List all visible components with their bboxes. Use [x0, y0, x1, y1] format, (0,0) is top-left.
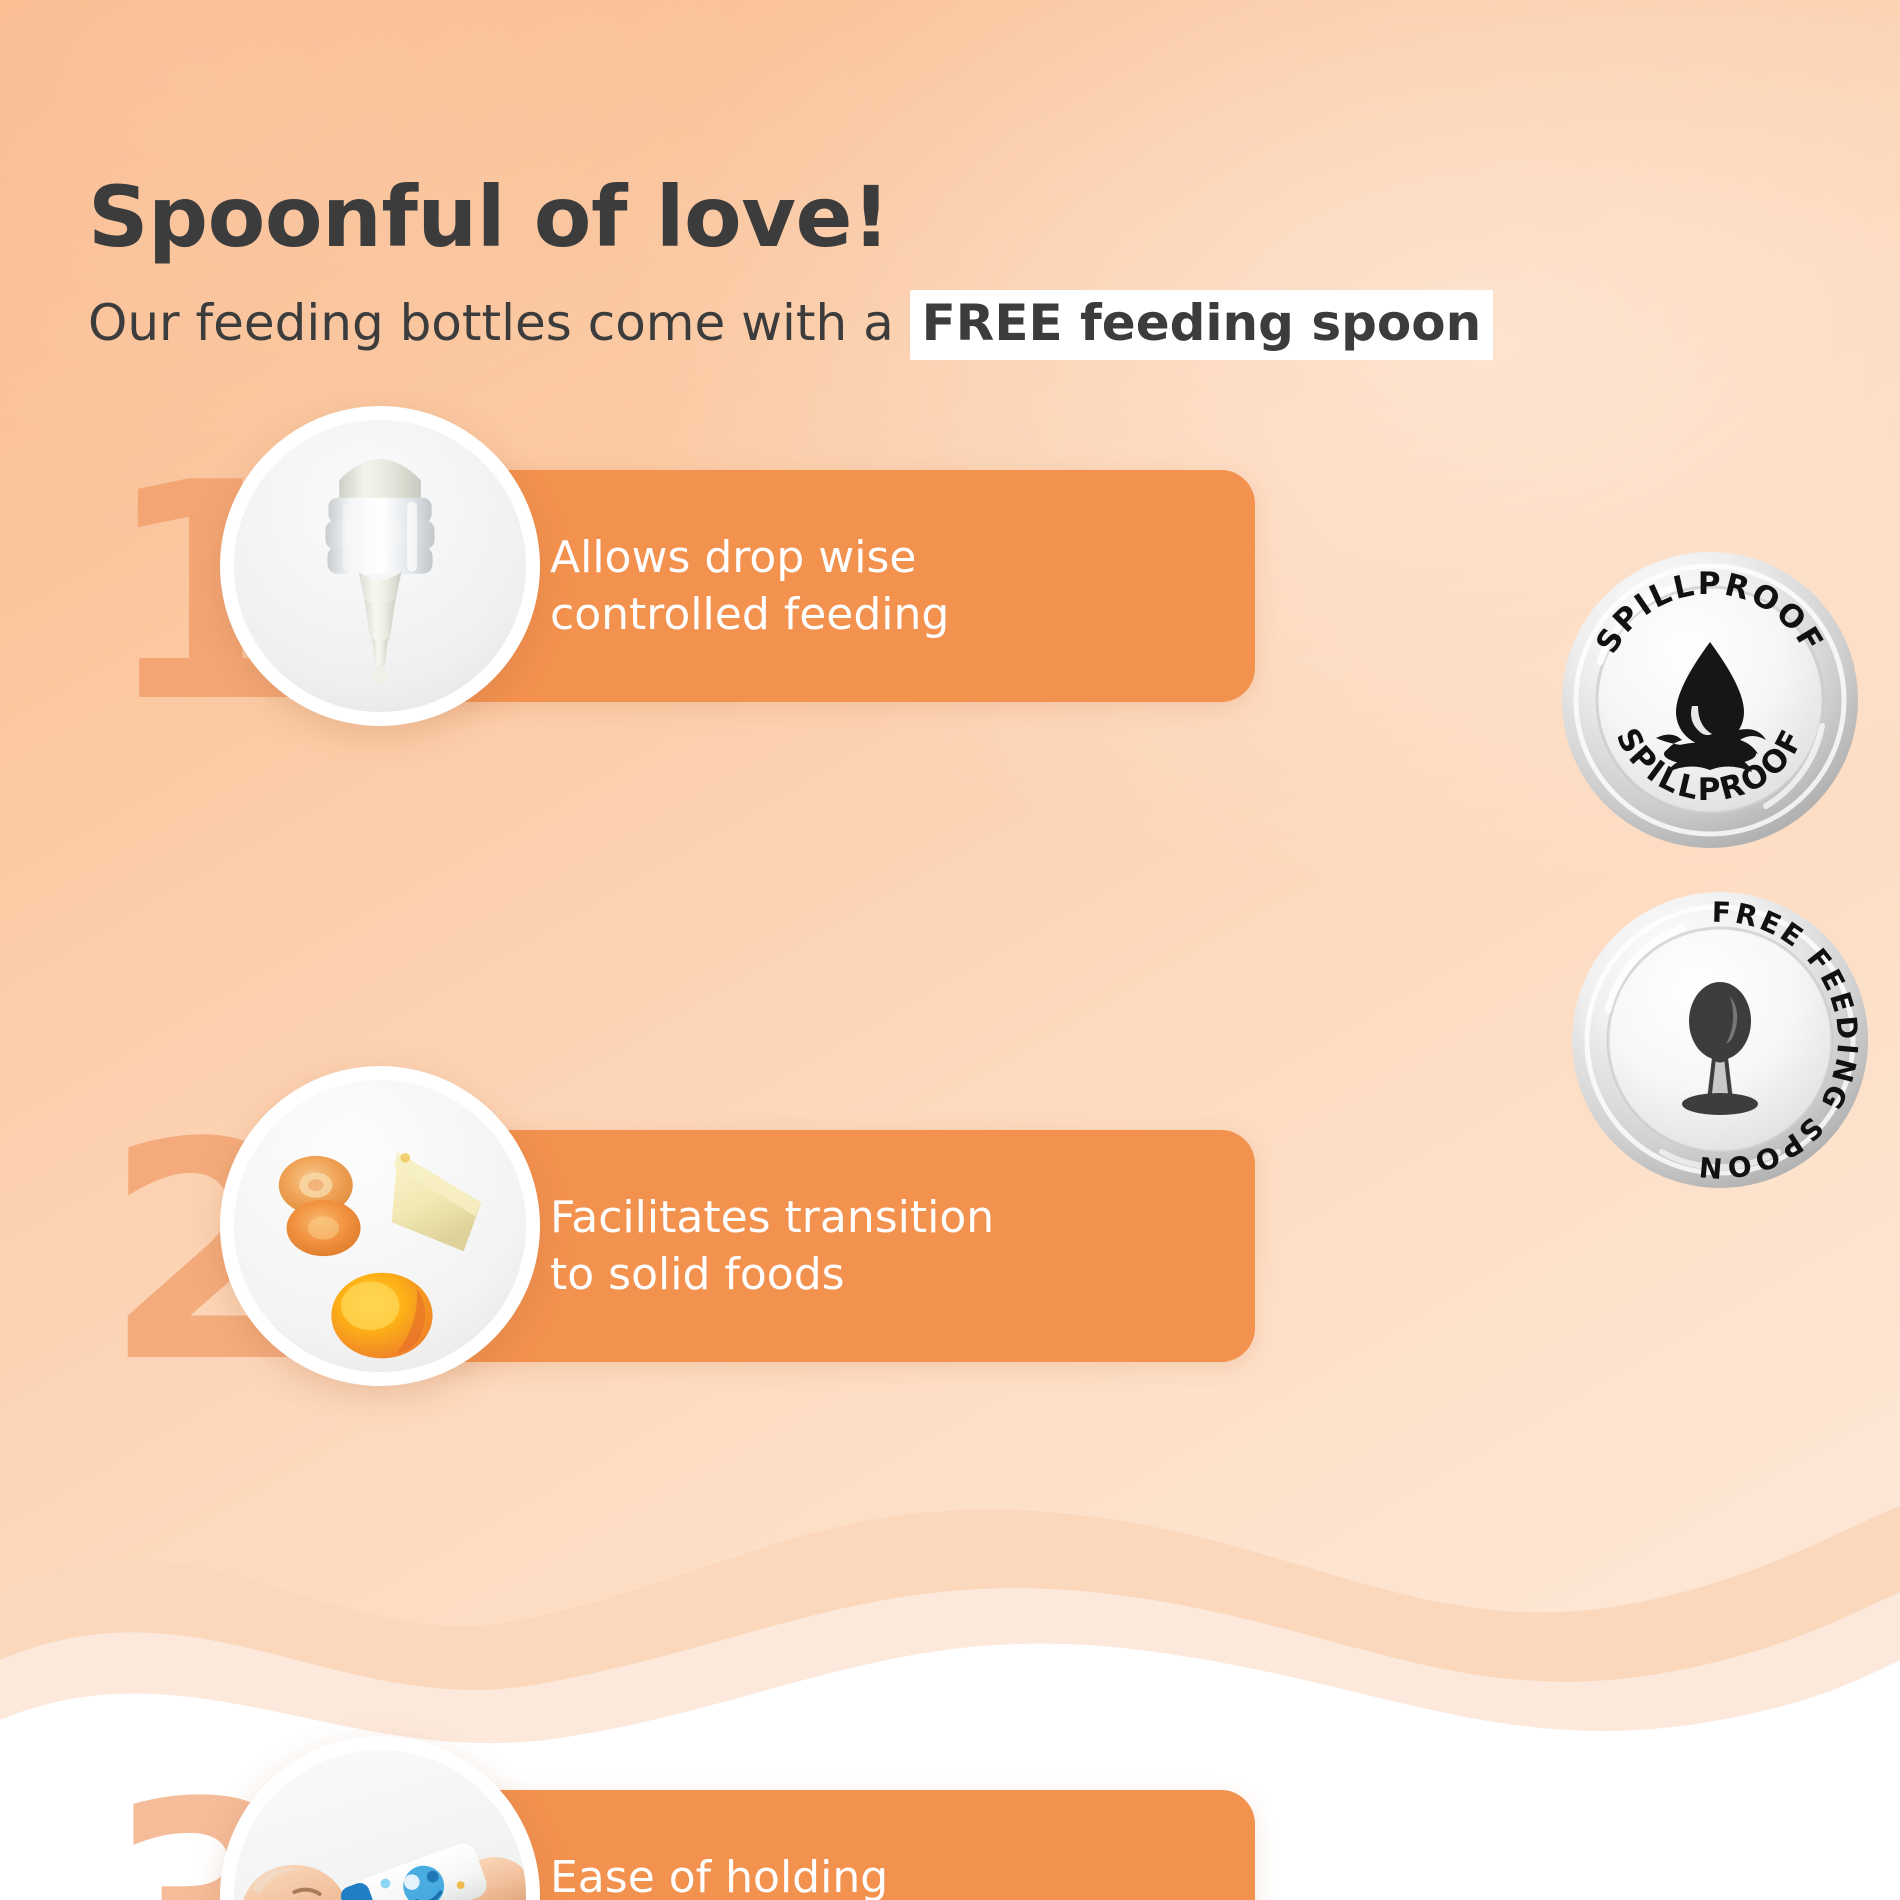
page-title: Spoonful of love! [88, 175, 1588, 259]
feature-image-circle [220, 1066, 540, 1386]
feature-row: 1 Allows drop wise controlled feeding [0, 470, 1250, 810]
feature-image-circle [220, 1736, 540, 1900]
feature-row: 2 Facilitates transition to solid foods [0, 810, 1250, 1150]
subtitle-highlight-text: FREE feeding spoon [910, 290, 1494, 360]
badge-free-feeding-spoon: FREE FEEDING SPOON [1570, 890, 1870, 1190]
solid-foods-photo [234, 1080, 526, 1372]
header: Spoonful of love! Our feeding bottles co… [88, 175, 1588, 350]
promo-poster: Spoonful of love! Our feeding bottles co… [0, 0, 1900, 1900]
feature-list: 1 Allows drop wise controlled feeding [0, 470, 1250, 1490]
feature-text: Ease of holding while feeding [550, 1849, 888, 1900]
badge-spillproof: SPILLPROOF SPILLPROOF [1560, 550, 1860, 850]
feature-text: Facilitates transition to solid foods [550, 1189, 994, 1303]
feature-image-circle [220, 406, 540, 726]
baby-with-bottle-photo [234, 1750, 526, 1900]
subtitle-plain-text: Our feeding bottles come with a [88, 294, 910, 352]
feature-text: Allows drop wise controlled feeding [550, 529, 949, 643]
subtitle: Our feeding bottles come with a FREE fee… [88, 297, 1588, 350]
bottle-teat-photo [234, 420, 526, 712]
